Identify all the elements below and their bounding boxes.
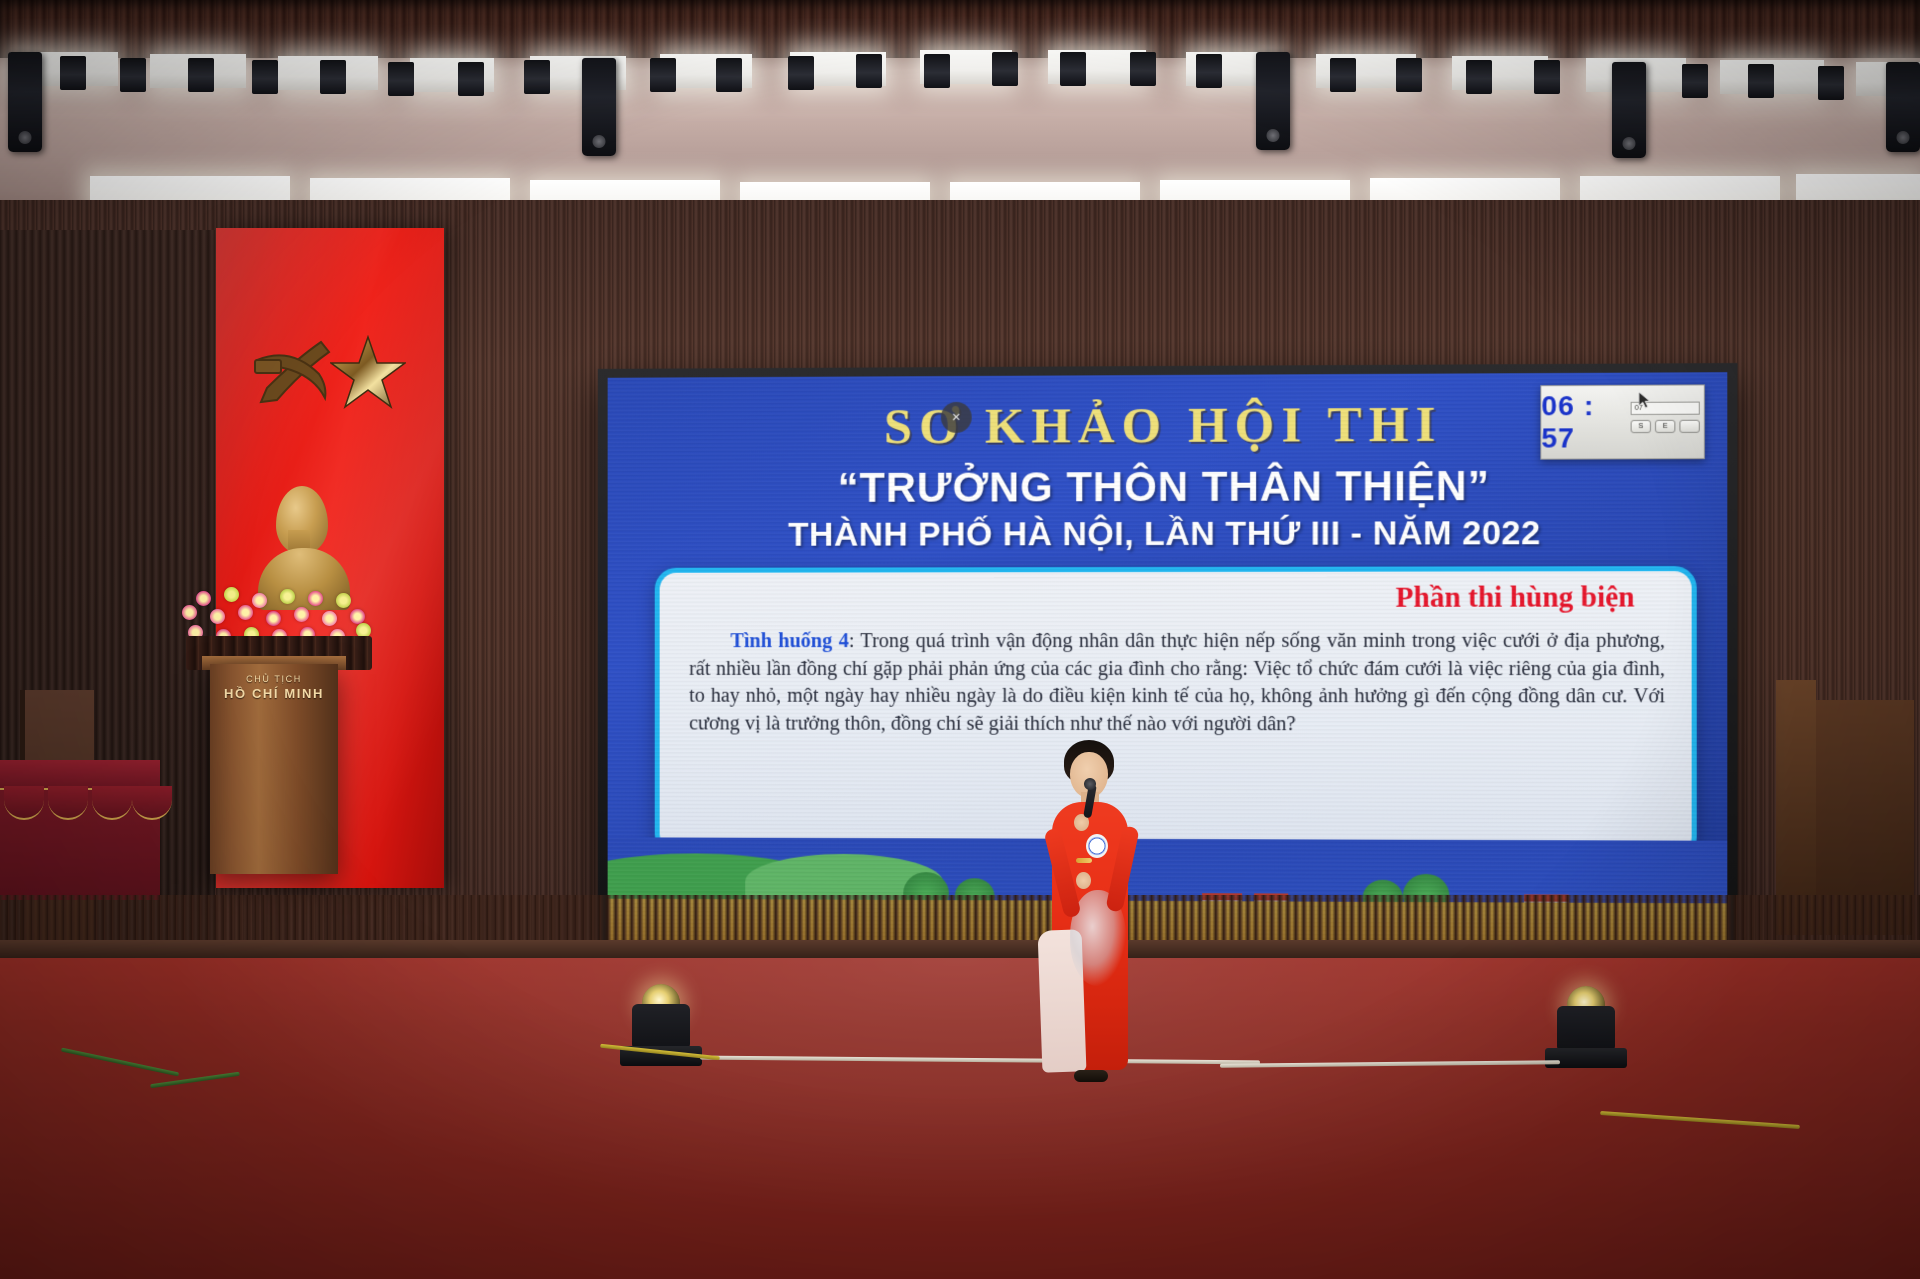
bust-pedestal: CHỦ TỊCH HỒ CHÍ MINH xyxy=(210,664,338,874)
ceiling-spotlight xyxy=(856,54,882,88)
ceiling-spotlight xyxy=(458,62,484,96)
ceiling-spotlight xyxy=(320,60,346,94)
performer-shoes xyxy=(1074,1070,1108,1082)
led-screen-bezel: SƠ KHẢO HỘI THI “TRƯỞNG THÔN THÂN THIỆN”… xyxy=(598,363,1738,963)
ceiling-speaker xyxy=(1256,52,1290,150)
case-label: Tình huống 4 xyxy=(730,630,848,652)
ceiling-spotlight xyxy=(1196,54,1222,88)
timer-end-button[interactable]: E xyxy=(1655,420,1675,433)
pedestal-line-1: CHỦ TỊCH xyxy=(210,674,338,684)
slide-question-text: Tình huống 4: Trong quá trình vận động n… xyxy=(689,628,1665,739)
ceiling-spotlight xyxy=(924,54,950,88)
ceiling-spotlight xyxy=(188,58,214,92)
ceiling-spotlight xyxy=(716,58,742,92)
performer-speaker xyxy=(1030,740,1150,1110)
ceiling-spotlight xyxy=(1060,52,1086,86)
moving-head-light-right xyxy=(1545,980,1627,1068)
led-screen[interactable]: SƠ KHẢO HỘI THI “TRƯỞNG THÔN THÂN THIỆN”… xyxy=(608,372,1728,952)
close-icon[interactable]: × xyxy=(941,402,972,433)
performer-hand-other xyxy=(1076,872,1091,889)
stage-floor xyxy=(0,958,1920,1279)
ceiling-spotlight xyxy=(1330,58,1356,92)
ceiling-speaker xyxy=(1612,62,1646,158)
ceiling-spotlight xyxy=(788,56,814,90)
pedestal-line-2: HỒ CHÍ MINH xyxy=(210,686,338,701)
ceiling-spotlight xyxy=(524,60,550,94)
ceiling-spotlight xyxy=(1396,58,1422,92)
stage-photograph: CHỦ TỊCH HỒ CHÍ MINH SƠ KHẢO HỘI THI “TR… xyxy=(0,0,1920,1279)
ceiling-spotlight xyxy=(1682,64,1708,98)
slide-content-card: Phần thi hùng biện Tình huống 4: Trong q… xyxy=(655,566,1697,859)
ceiling-spotlight xyxy=(650,58,676,92)
timer-extra-button[interactable] xyxy=(1679,420,1699,433)
draped-table xyxy=(0,760,160,900)
slide-subtitle-1: “TRƯỞNG THÔN THÂN THIỆN” xyxy=(608,461,1728,512)
countdown-timer-panel[interactable]: 06 : 57 07 S E xyxy=(1540,384,1705,459)
timer-display: 06 : 57 xyxy=(1541,386,1628,459)
ceiling-spotlight xyxy=(1130,52,1156,86)
ceiling-spotlight xyxy=(1748,64,1774,98)
ceiling-spotlight xyxy=(120,58,146,92)
ceiling-spotlight xyxy=(388,62,414,96)
slide-subtitle-2: THÀNH PHỐ HÀ NỘI, LẦN THỨ III - NĂM 2022 xyxy=(608,514,1728,556)
ceiling-spotlight xyxy=(992,52,1018,86)
ceiling-spotlight xyxy=(252,60,278,94)
slide-card-heading: Phần thi hùng biện xyxy=(1396,581,1635,614)
ceiling-speaker xyxy=(8,52,42,152)
contestant-badge xyxy=(1086,834,1108,858)
five-pointed-star-icon xyxy=(330,335,406,411)
ceiling-speaker xyxy=(582,58,616,156)
ceiling-spotlight xyxy=(1534,60,1560,94)
ceiling-spotlight xyxy=(1818,66,1844,100)
timer-start-button[interactable]: S xyxy=(1631,420,1651,433)
timer-value: 06 : 57 xyxy=(1541,390,1628,455)
ceiling-spotlight xyxy=(60,56,86,90)
ceiling-speaker xyxy=(1886,62,1920,152)
ceiling-spotlight xyxy=(1466,60,1492,94)
hammer-and-sickle-icon xyxy=(247,330,339,416)
